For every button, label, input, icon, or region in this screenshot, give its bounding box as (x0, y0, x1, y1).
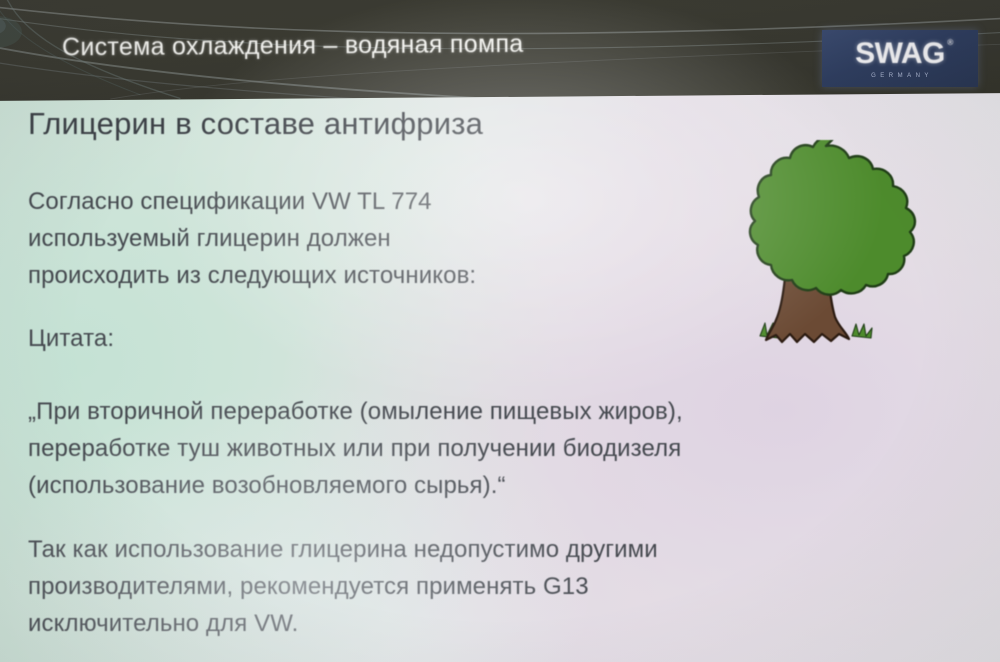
slide-title: Глицерин в составе антифриза (28, 106, 483, 142)
paragraph-quote-label: Цитата: (28, 320, 114, 357)
presentation-slide: Система охлаждения – водяная помпа SWAG … (0, 0, 1000, 662)
swag-logo-subtitle: GERMANY (871, 73, 933, 79)
paragraph-specification: Согласно спецификации VW TL 774 использу… (28, 183, 476, 294)
registered-trademark-icon: ® (947, 39, 952, 47)
tree-illustration (726, 140, 926, 368)
swag-logo: SWAG ® GERMANY (822, 30, 978, 87)
swag-logo-text: SWAG (855, 37, 945, 70)
quote-text: „При вторичной переработке (омыление пищ… (28, 398, 683, 499)
note-text: Так как использование глицерина недопуст… (28, 536, 658, 637)
paragraph-specification-text: Согласно спецификации VW TL 774 использу… (28, 188, 476, 289)
swag-logo-wordmark: SWAG ® (855, 39, 945, 69)
quote-label-text: Цитата: (28, 325, 114, 352)
tree-canopy (750, 140, 915, 295)
paragraph-quote: „При вторичной переработке (омыление пищ… (28, 393, 683, 504)
paragraph-note: Так как использование глицерина недопуст… (28, 531, 658, 642)
header-title: Система охлаждения – водяная помпа (62, 30, 524, 63)
